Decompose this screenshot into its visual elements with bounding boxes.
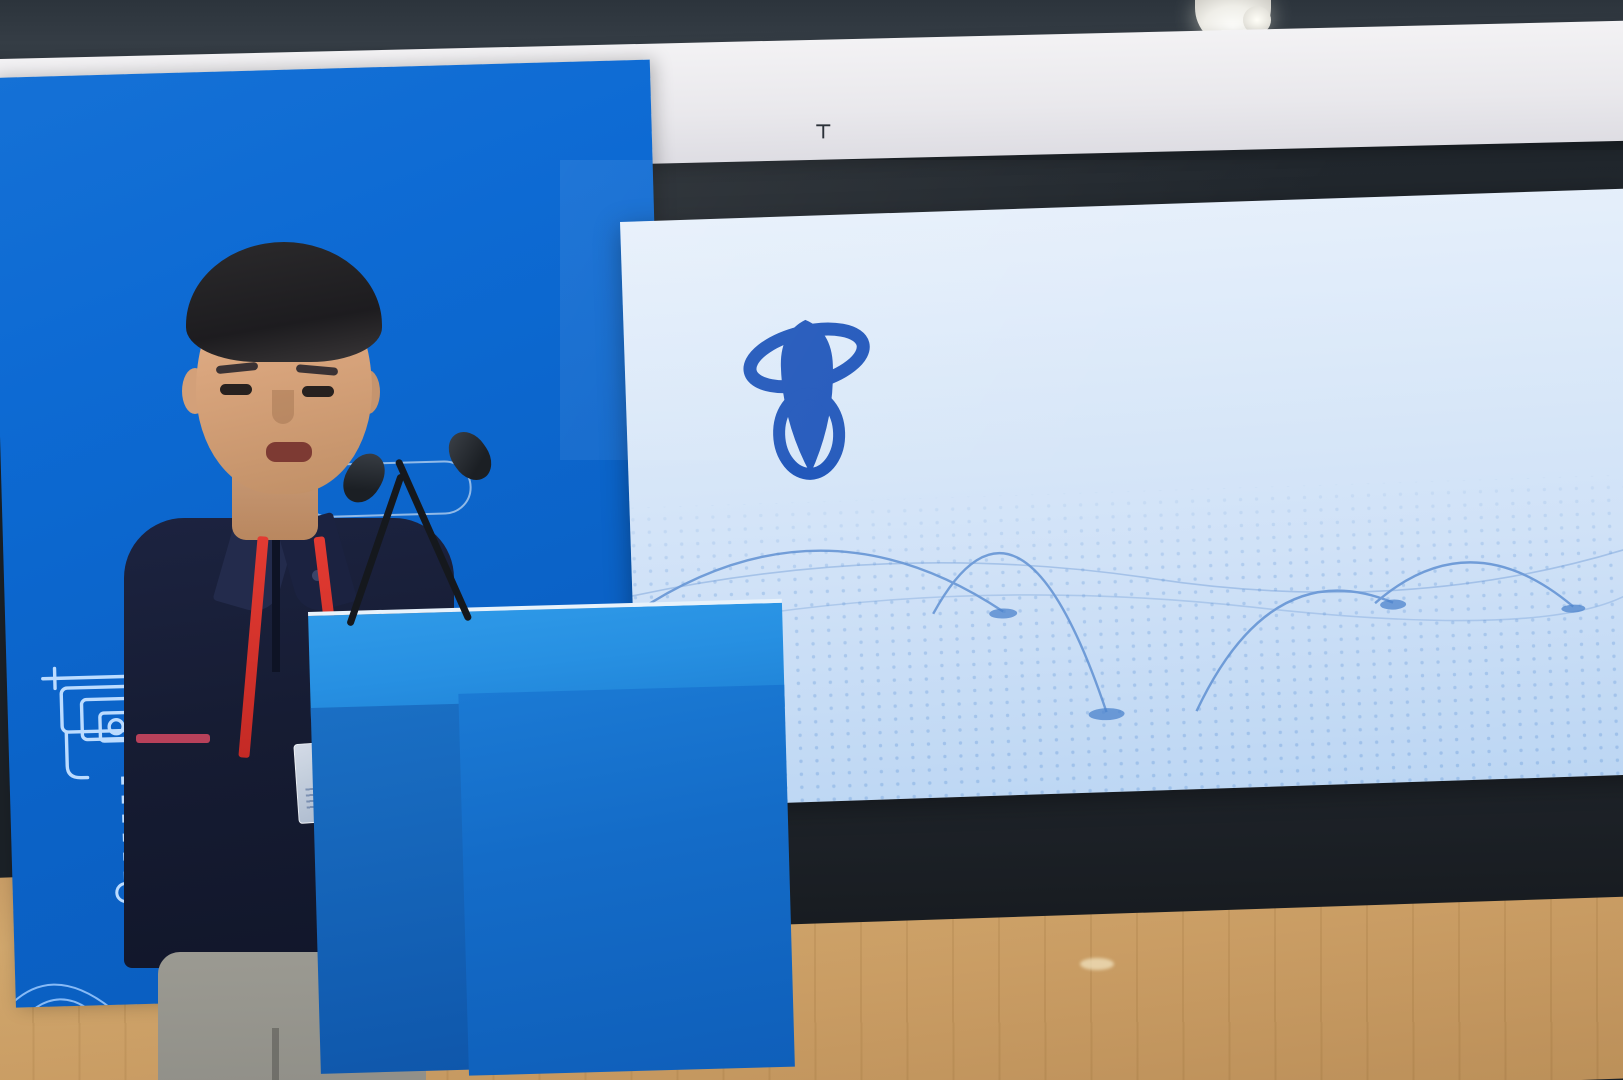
lectern-subtitle-line1: [469, 861, 785, 870]
lectern-title-line2: [470, 759, 780, 768]
screenshot-stage: ⊤: [0, 0, 1623, 1080]
lectern-side-panel: [311, 704, 471, 1074]
speaker-leg-split: [272, 1028, 279, 1080]
lectern-sign: [458, 685, 795, 1076]
lectern: [308, 599, 795, 1080]
lectern-subtitle: [469, 861, 785, 870]
lectern-date: [623, 929, 624, 955]
floor-mark: [1080, 958, 1114, 970]
speaker-eye: [302, 386, 334, 397]
speaker-sleeve-stripe: [136, 734, 210, 743]
speaker-hair: [186, 242, 382, 362]
orbit-cross-logo-icon: [735, 304, 881, 499]
speaker-placket: [272, 540, 280, 672]
speaker-mouth: [266, 442, 312, 462]
sponsor-logo-strip: [860, 6, 1620, 90]
lectern-date-row: [475, 925, 786, 961]
lectern-title-line1: [470, 759, 780, 768]
speaker-nose: [272, 390, 294, 424]
lectern-subtitle-line2: [469, 861, 785, 870]
wall-fixture-icon: ⊤: [815, 125, 831, 141]
lectern-title: [470, 759, 780, 768]
lectern-location: [637, 929, 638, 955]
slide-title: [870, 374, 1623, 400]
speaker-eye: [220, 384, 252, 395]
